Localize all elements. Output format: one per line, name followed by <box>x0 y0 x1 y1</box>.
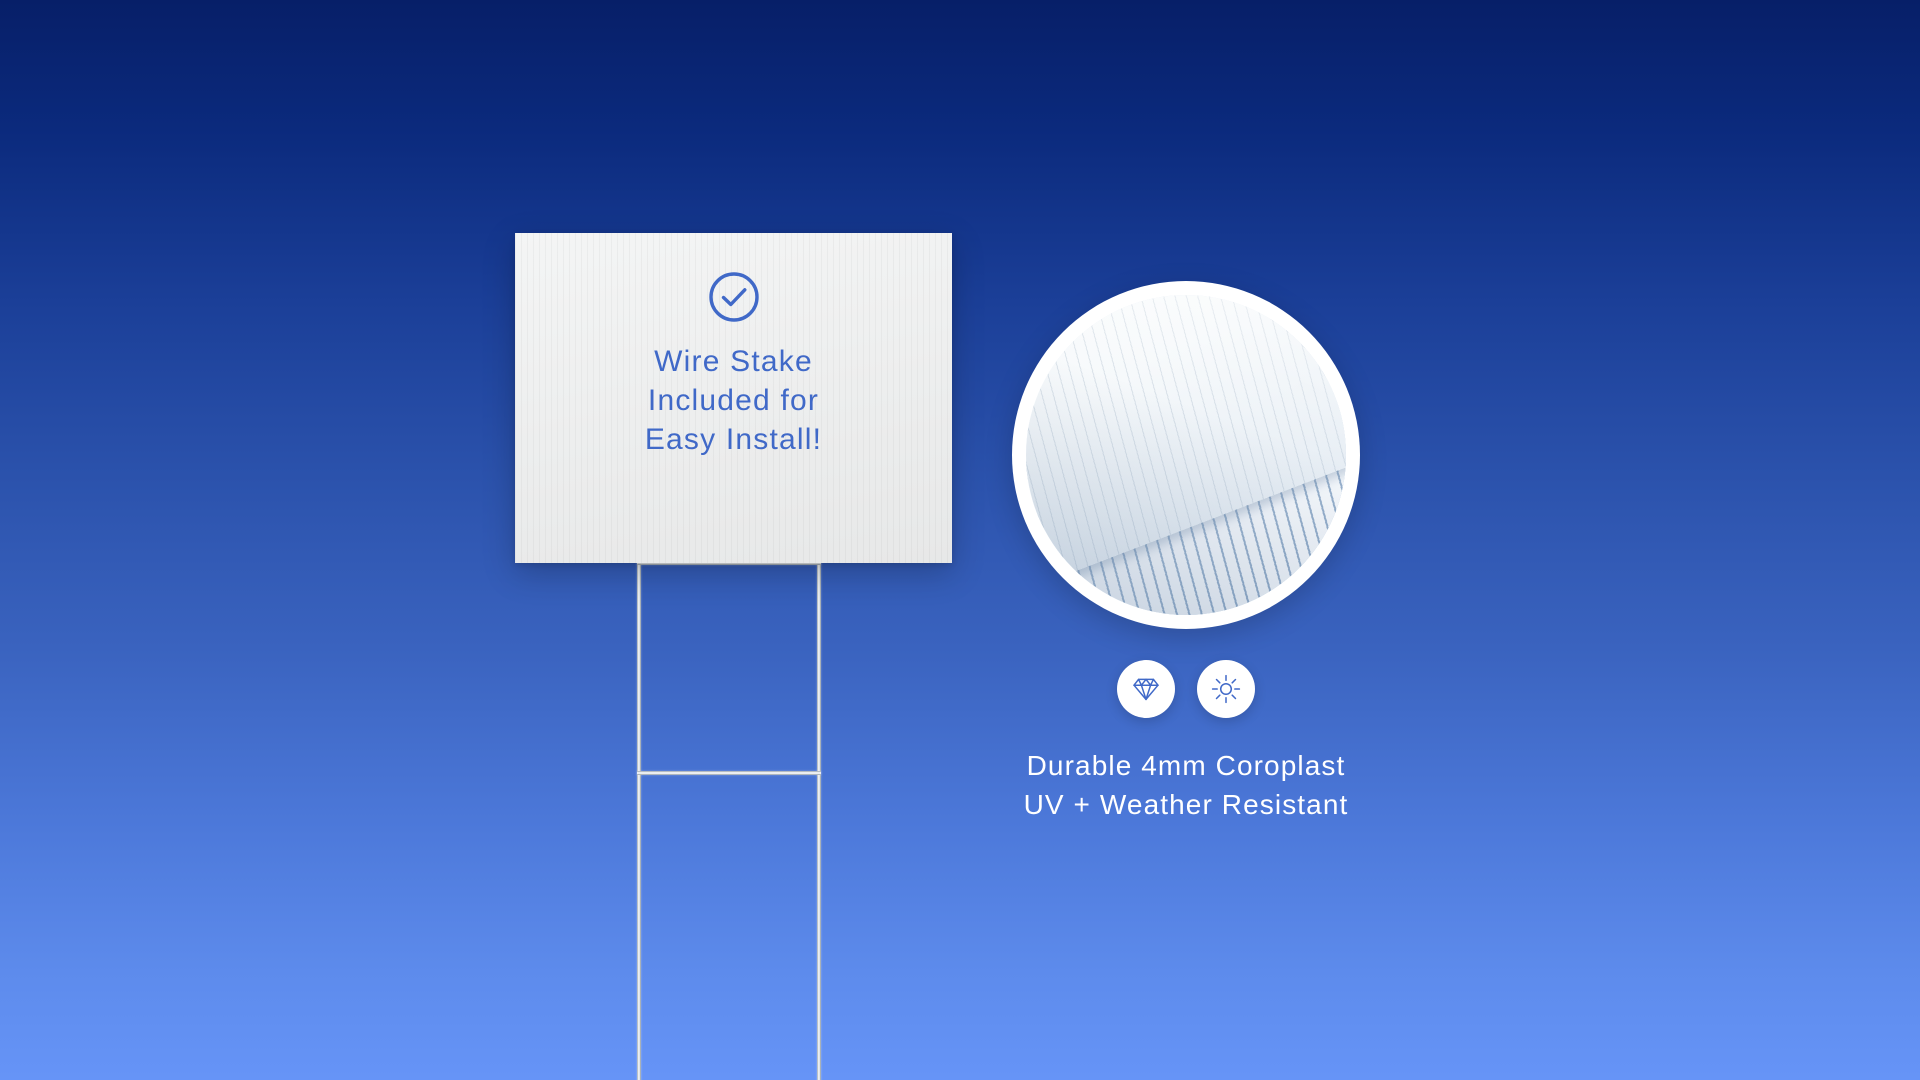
stake-crossbar-bottom <box>637 771 821 775</box>
caption-line-1: Durable 4mm Coroplast <box>962 747 1410 786</box>
material-caption: Durable 4mm Coroplast UV + Weather Resis… <box>962 747 1410 824</box>
coroplast-photo <box>1026 295 1346 615</box>
sign-headline-line-3: Easy Install! <box>645 420 822 459</box>
stake-leg-right <box>817 481 821 1080</box>
sign-headline-line-2: Included for <box>645 381 822 420</box>
sign-board: Wire Stake Included for Easy Install! <box>515 233 952 563</box>
badge-uv-resistant <box>1197 660 1255 718</box>
stake-leg-left <box>637 481 641 1080</box>
feature-badge-row <box>1012 660 1360 718</box>
yard-sign-with-stake: Wire Stake Included for Easy Install! <box>515 233 952 793</box>
sign-headline-line-1: Wire Stake <box>645 342 822 381</box>
sun-icon <box>1209 672 1243 706</box>
circle-check-icon <box>706 269 762 325</box>
sign-headline: Wire Stake Included for Easy Install! <box>645 342 822 459</box>
caption-line-2: UV + Weather Resistant <box>962 786 1410 825</box>
diamond-icon <box>1129 672 1163 706</box>
material-closeup-circle <box>1012 281 1360 629</box>
badge-durable <box>1117 660 1175 718</box>
photo-shading-overlay <box>1026 295 1346 615</box>
product-feature-graphic: Wire Stake Included for Easy Install! <box>0 0 1920 1080</box>
